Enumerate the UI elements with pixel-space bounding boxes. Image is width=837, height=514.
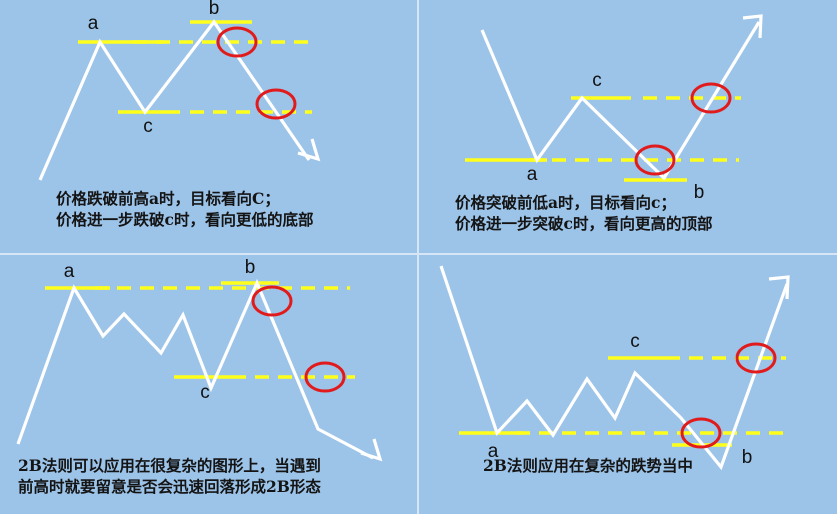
price-path: [441, 266, 787, 467]
figure-canvas: a b c 价格跌破前高a时，目标看向C； 价格进一步跌破c时，看向更低的底部 …: [0, 0, 837, 514]
point-label-c: c: [143, 116, 153, 137]
point-label-c: c: [630, 331, 640, 352]
panel-caption-bottom-left: 2B法则可以应用在很复杂的图形上，当遇到 前高时就要留意是否会迅速回落形成2B形…: [18, 455, 408, 497]
panel-top-right: a b c 价格突破前低a时，目标看向c； 价格进一步突破c时，看向更高的顶部: [419, 0, 837, 253]
point-label-c: c: [200, 382, 210, 403]
point-label-a: a: [88, 13, 99, 34]
breakout-marker-1: [253, 287, 291, 315]
point-label-c: c: [592, 70, 602, 91]
point-label-a: a: [527, 164, 538, 185]
point-label-b: b: [209, 0, 220, 19]
panel-bottom-right: a b c 2B法则应用在复杂的跌势当中: [419, 255, 837, 514]
panel-caption-top-left: 价格跌破前高a时，目标看向C； 价格进一步跌破c时，看向更低的底部: [56, 188, 396, 230]
panel-caption-top-right: 价格突破前低a时，目标看向c； 价格进一步突破c时，看向更高的顶部: [455, 192, 825, 234]
point-label-b: b: [245, 257, 256, 278]
panel-caption-bottom-right: 2B法则应用在复杂的跌势当中: [483, 455, 813, 476]
price-path: [482, 22, 759, 178]
panel-bottom-left: a b c 2B法则可以应用在很复杂的图形上，当遇到 前高时就要留意是否会迅速回…: [0, 255, 417, 514]
point-label-a: a: [64, 261, 75, 282]
price-path: [40, 22, 309, 180]
level-lines-top-left: [78, 22, 312, 112]
panel-top-left: a b c 价格跌破前高a时，目标看向C； 价格进一步跌破c时，看向更低的底部: [0, 0, 417, 253]
price-path: [18, 283, 373, 458]
